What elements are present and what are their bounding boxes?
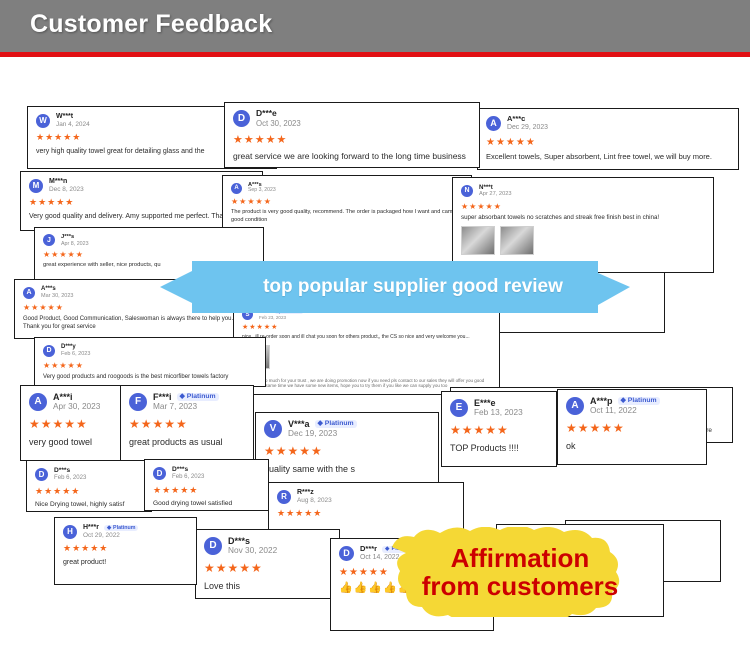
diamond-icon: ◆ (318, 420, 323, 428)
reviewer-name: H***r (83, 524, 99, 532)
review-meta: D***eOct 30, 2023 (256, 109, 301, 128)
star-rating: ★★★★★ (233, 133, 471, 146)
ribbon-banner: top popular supplier good review (160, 259, 630, 315)
star-rating: ★★★★★ (129, 417, 245, 431)
reviewer-name: J***s (61, 234, 74, 241)
star-rating: ★★★★★ (43, 361, 257, 370)
reviewer-name: N***t (479, 184, 493, 191)
review-date: Feb 13, 2023 (474, 408, 523, 418)
review-header: DD***sNov 30, 2022 (204, 536, 331, 556)
review-card[interactable]: DD***sNov 30, 2022★★★★★Love this (195, 529, 340, 599)
review-text: ok (566, 440, 698, 452)
review-card[interactable]: EE***eFeb 13, 2023★★★★★TOP Products !!!! (441, 391, 557, 467)
star-rating: ★★★★★ (35, 486, 143, 497)
review-date: Apr 30, 2023 (53, 402, 100, 412)
review-text: Love this (204, 580, 331, 592)
review-card[interactable]: AA***p◆PlatinumOct 11, 2022★★★★★ok (557, 389, 707, 465)
review-text: The product is very good quality, recomm… (231, 209, 463, 224)
review-meta: R***zAug 8, 2023 (297, 489, 332, 504)
review-text: quality same with the s (264, 463, 430, 475)
avatar: D (35, 468, 48, 481)
review-card[interactable]: FF***i◆PlatinumMar 7, 2023★★★★★great pro… (120, 385, 254, 461)
review-text: Excellent towels, Super absorbent, Lint … (486, 152, 730, 162)
diamond-icon: ◆ (180, 393, 185, 401)
review-header: JJ***sApr 8, 2023 (43, 234, 255, 247)
avatar: R (277, 490, 291, 504)
platinum-badge-label: Platinum (187, 393, 216, 401)
review-photos (231, 228, 463, 255)
ribbon-label: top popular supplier good review (160, 259, 630, 315)
review-header: MM***nDec 8, 2023 (29, 178, 254, 193)
review-text: great product! (63, 558, 188, 567)
platinum-badge-label: Platinum (325, 420, 354, 428)
review-date: Dec 8, 2023 (49, 186, 84, 193)
reviewer-name: M***n (49, 178, 67, 186)
star-rating: ★★★★★ (153, 485, 260, 496)
star-rating: ★★★★★ (486, 137, 730, 148)
review-text: Nice Drying towel, highly satisf (35, 501, 143, 510)
review-card[interactable]: DD***yFeb 6, 2023★★★★★Very good products… (34, 337, 266, 387)
review-date: Sep 3, 2023 (248, 188, 276, 194)
affirmation-line-1: Affirmation (451, 544, 590, 572)
review-header: RR***zAug 8, 2023 (277, 489, 455, 504)
avatar: D (204, 537, 222, 555)
review-date: Apr 8, 2023 (61, 241, 89, 247)
review-meta: A***sSep 3, 2023 (248, 182, 276, 194)
reviewer-name: D***s (172, 466, 188, 474)
avatar: E (450, 399, 468, 417)
diamond-icon: ◆ (107, 525, 111, 531)
avatar: D (43, 345, 55, 357)
review-header: DD***sFeb 6, 2023 (153, 466, 260, 481)
review-photo-thumbnail[interactable] (500, 226, 534, 255)
review-header: AA***cDec 29, 2023 (486, 115, 730, 132)
avatar: A (29, 393, 47, 411)
review-meta: D***sNov 30, 2022 (228, 536, 277, 556)
star-rating: ★★★★★ (450, 423, 548, 437)
review-header: HH***r◆PlatinumOct 29, 2022 (63, 524, 188, 539)
review-date: Apr 27, 2023 (479, 191, 512, 198)
diamond-icon: ◆ (621, 397, 626, 405)
review-header: VV***a◆PlatinumDec 19, 2023 (264, 419, 430, 439)
reviewer-name: D***r (360, 545, 377, 554)
star-rating: ★★★★★ (63, 543, 188, 554)
review-text: super absorbant towels no scratches and … (461, 214, 705, 222)
review-text: Very good products and roogoods is the b… (43, 373, 257, 381)
review-date: Feb 23, 2023 (259, 315, 303, 320)
review-meta: A***sMar 30, 2023 (41, 286, 74, 299)
reviewer-name: D***s (54, 467, 70, 475)
review-header: FF***i◆PlatinumMar 7, 2023 (129, 392, 245, 412)
review-text: Good drying towel satisfied (153, 500, 260, 509)
review-collage: WW***tJan 4, 2024★★★★★very high quality … (0, 57, 750, 655)
review-header: NN***tApr 27, 2023 (461, 184, 705, 198)
review-meta: M***nDec 8, 2023 (49, 178, 84, 193)
star-rating: ★★★★★ (29, 417, 112, 431)
reviewer-name: D***y (61, 344, 76, 351)
review-text: great products as usual (129, 436, 245, 448)
page-header: Customer Feedback (0, 0, 750, 52)
avatar: H (63, 525, 77, 539)
review-date: Mar 30, 2023 (41, 293, 74, 299)
review-header: AA***p◆PlatinumOct 11, 2022 (566, 396, 698, 416)
review-card[interactable]: DD***sFeb 6, 2023★★★★★Good drying towel … (144, 459, 269, 511)
avatar: J (43, 234, 55, 246)
review-photos (461, 226, 705, 255)
review-text: nice,, ill re-order soon and ill chat yo… (242, 334, 491, 341)
review-meta: J***sApr 8, 2023 (61, 234, 89, 247)
review-text: TOP Products !!!! (450, 442, 548, 454)
review-meta: N***tApr 27, 2023 (479, 184, 512, 198)
platinum-badge: ◆Platinum (618, 397, 660, 405)
star-rating: ★★★★★ (231, 197, 463, 206)
review-card[interactable]: DD***eOct 30, 2023★★★★★great service we … (224, 102, 480, 168)
review-header: AA***sSep 3, 2023 (231, 182, 463, 194)
review-text: Very good quality and delivery. Amy supp… (29, 212, 254, 221)
review-card[interactable]: SS***t◆PlatinumFeb 23, 2023★★★★★nice,, i… (233, 302, 500, 395)
platinum-badge: ◆Platinum (104, 525, 139, 531)
review-date: Feb 6, 2023 (54, 475, 86, 482)
reviewer-name: D***e (256, 109, 277, 119)
review-date: Dec 29, 2023 (507, 124, 548, 132)
reviewer-name: V***a (288, 419, 310, 429)
star-rating: ★★★★★ (264, 444, 430, 458)
review-meta: W***tJan 4, 2024 (56, 113, 90, 128)
review-meta: D***yFeb 6, 2023 (61, 344, 90, 357)
review-header: DD***sFeb 6, 2023 (35, 467, 143, 482)
review-date: Nov 30, 2022 (228, 546, 277, 556)
reviewer-name: W***t (56, 113, 73, 121)
reviewer-name: A***c (507, 115, 525, 124)
review-meta: A***cDec 29, 2023 (507, 115, 548, 132)
review-meta: D***sFeb 6, 2023 (172, 466, 204, 481)
star-rating: ★★★★★ (566, 421, 698, 435)
reviewer-name: A***i (53, 392, 73, 402)
star-rating: ★★★★★ (277, 508, 455, 519)
review-text: very good towel (29, 436, 112, 448)
star-rating: ★★★★★ (29, 197, 254, 208)
avatar: A (231, 183, 242, 194)
reviewer-name: F***i (153, 392, 172, 402)
affirmation-line-2: from customers (422, 572, 619, 600)
affirmation-label: Affirmation from customers (380, 527, 660, 617)
star-rating: ★★★★★ (204, 561, 331, 575)
review-card[interactable]: DD***sFeb 6, 2023★★★★★Nice Drying towel,… (26, 460, 152, 512)
avatar: W (36, 114, 50, 128)
review-photo-thumbnail[interactable] (461, 226, 495, 255)
star-rating: ★★★★★ (43, 250, 255, 259)
review-photos (242, 345, 491, 369)
star-rating: ★★★★★ (461, 202, 705, 211)
platinum-badge-label: Platinum (628, 397, 657, 405)
reviewer-name: E***e (474, 398, 496, 408)
review-meta: A***iApr 30, 2023 (53, 392, 100, 412)
reviewer-name: D***s (228, 536, 250, 546)
avatar: V (264, 420, 282, 438)
review-header: AA***iApr 30, 2023 (29, 392, 112, 412)
review-meta: F***i◆PlatinumMar 7, 2023 (153, 392, 219, 412)
affirmation-banner: Affirmation from customers (380, 527, 660, 617)
review-header: EE***eFeb 13, 2023 (450, 398, 548, 418)
review-meta: E***eFeb 13, 2023 (474, 398, 523, 418)
page-title: Customer Feedback (30, 10, 272, 39)
review-card[interactable]: AA***iApr 30, 2023★★★★★very good towel (20, 385, 121, 461)
review-date: Jan 4, 2024 (56, 121, 90, 128)
reviewer-name: R***z (297, 489, 314, 497)
review-date: Mar 7, 2023 (153, 402, 219, 412)
review-date: Oct 11, 2022 (590, 406, 660, 416)
review-meta: V***a◆PlatinumDec 19, 2023 (288, 419, 357, 439)
avatar: A (23, 287, 35, 299)
review-date: Dec 19, 2023 (288, 429, 357, 439)
review-date: Oct 29, 2022 (83, 532, 138, 539)
avatar: D (339, 546, 354, 561)
avatar: F (129, 393, 147, 411)
review-text: Good Product, Good Communication, Salesw… (23, 315, 247, 331)
review-date: Aug 8, 2023 (297, 497, 332, 504)
review-meta: D***sFeb 6, 2023 (54, 467, 86, 482)
avatar: D (233, 110, 250, 127)
review-card[interactable]: HH***r◆PlatinumOct 29, 2022★★★★★great pr… (54, 517, 197, 585)
avatar: A (566, 397, 584, 415)
platinum-badge: ◆Platinum (177, 393, 219, 401)
review-text: great service we are looking forward to … (233, 151, 471, 162)
reviewer-name: A***s (41, 286, 56, 293)
review-card[interactable]: AA***cDec 29, 2023★★★★★Excellent towels,… (477, 108, 739, 170)
reviewer-name: A***p (590, 396, 613, 406)
review-date: Feb 6, 2023 (172, 474, 204, 481)
avatar: N (461, 185, 473, 197)
review-date: Feb 6, 2023 (61, 351, 90, 357)
review-meta: A***p◆PlatinumOct 11, 2022 (590, 396, 660, 416)
platinum-badge: ◆Platinum (315, 420, 357, 428)
review-header: DD***yFeb 6, 2023 (43, 344, 257, 357)
review-header: DD***eOct 30, 2023 (233, 109, 471, 128)
avatar: M (29, 179, 43, 193)
review-meta: H***r◆PlatinumOct 29, 2022 (83, 524, 138, 539)
avatar: D (153, 467, 166, 480)
star-rating: ★★★★★ (242, 323, 491, 331)
review-date: Oct 30, 2023 (256, 119, 301, 128)
avatar: A (486, 116, 501, 131)
review-card[interactable]: VV***a◆PlatinumDec 19, 2023★★★★★quality … (255, 412, 439, 489)
platinum-badge-label: Platinum (113, 525, 135, 531)
